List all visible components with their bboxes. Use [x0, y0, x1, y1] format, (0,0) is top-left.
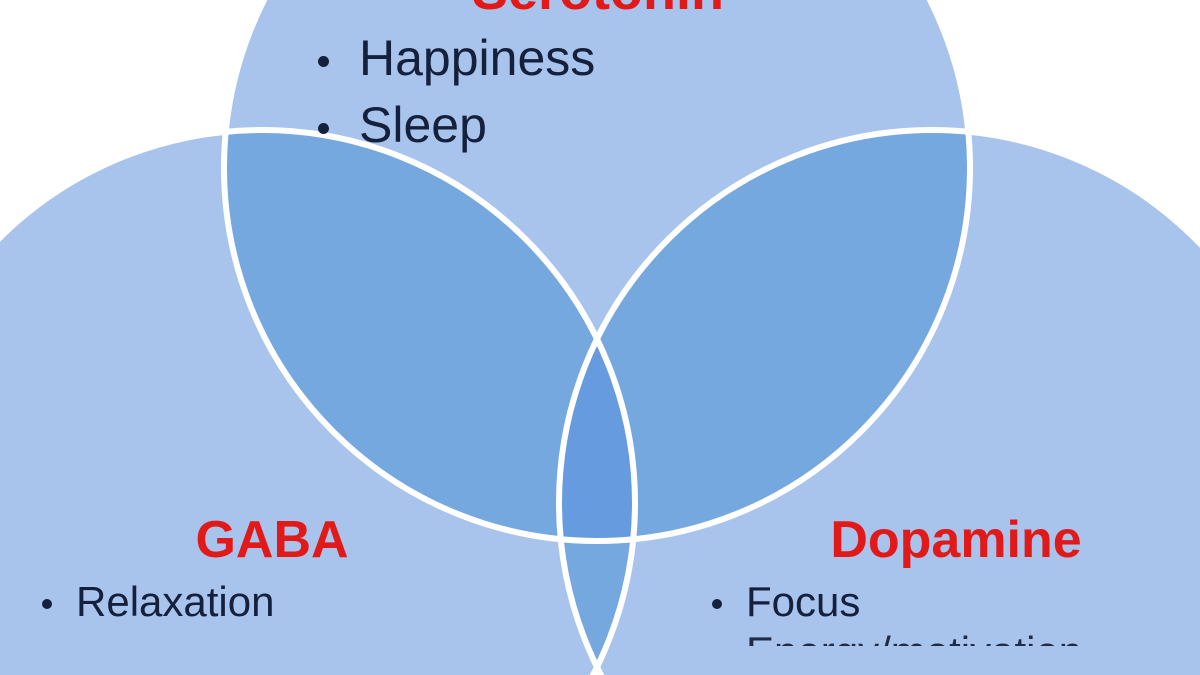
- list-item-label: Happiness: [359, 32, 595, 85]
- label-group-dopamine: Dopamine Focus Energy/motivation: [712, 514, 1200, 646]
- circle-title-serotonin: Serotonin: [318, 0, 878, 18]
- bullet-dot-icon: [712, 599, 722, 609]
- list-item-label: Energy/motivation: [746, 630, 1082, 646]
- bullet-dot-icon: [318, 56, 329, 67]
- list-item: Relaxation: [42, 580, 502, 624]
- bullet-list-dopamine: Focus Energy/motivation: [712, 580, 1200, 646]
- list-item-label: Focus: [746, 580, 860, 624]
- list-item: Happiness: [318, 32, 878, 85]
- bullet-dot-icon: [42, 599, 52, 609]
- circle-title-dopamine: Dopamine: [712, 514, 1200, 566]
- venn-diagram-canvas: Serotonin Happiness Sleep GABA Relaxatio…: [0, 0, 1200, 675]
- list-item: Sleep: [318, 99, 878, 152]
- list-item: Energy/motivation: [712, 630, 1200, 646]
- bullet-list-gaba: Relaxation: [42, 580, 502, 624]
- label-group-serotonin: Serotonin Happiness Sleep: [318, 0, 878, 151]
- circle-title-gaba: GABA: [42, 514, 502, 566]
- list-item: Focus: [712, 580, 1200, 624]
- label-group-gaba: GABA Relaxation: [42, 514, 502, 624]
- bullet-dot-icon: [318, 123, 329, 134]
- list-item-label: Sleep: [359, 99, 487, 152]
- list-item-label: Relaxation: [76, 580, 274, 624]
- bullet-list-serotonin: Happiness Sleep: [318, 32, 878, 151]
